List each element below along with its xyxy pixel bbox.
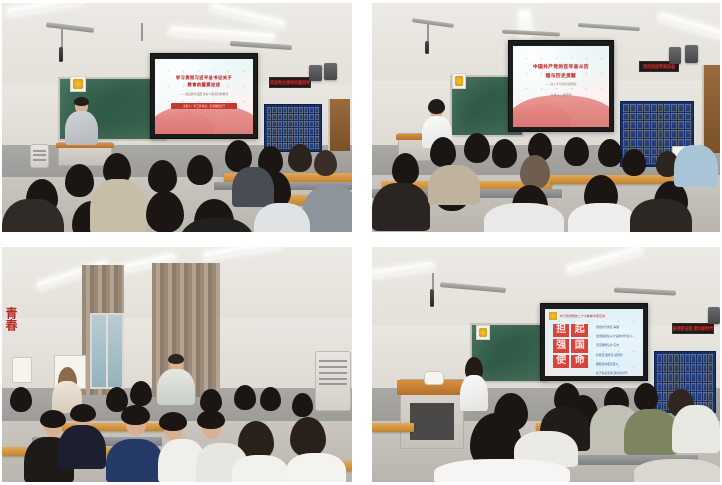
student-head [234, 385, 256, 410]
audience-head [146, 191, 184, 232]
slide-bullet: 担当民族复兴大任的时代新人 [596, 334, 632, 338]
slide-header: 学习贯彻党的二十大精神专题宣讲 [549, 312, 605, 320]
hanging-microphone [425, 41, 429, 54]
slide-bullet: 在于青春无悔 建功新时代 [596, 371, 632, 375]
wall-cabinet [30, 144, 49, 168]
student-head [10, 387, 32, 412]
student-desk [372, 423, 414, 432]
audience-torso [484, 203, 564, 232]
audience-head [430, 137, 456, 167]
audience-head [187, 155, 213, 185]
audience-head [634, 383, 658, 411]
audience-head [492, 139, 517, 168]
headline-char: 担 [553, 324, 570, 337]
mic-cable [432, 273, 434, 289]
student-head [130, 381, 152, 406]
presenter-torso [460, 375, 488, 411]
audience-torso [434, 459, 570, 482]
led-marquee-text: 欢迎各位领导莅临指导 [270, 79, 310, 86]
led-marquee: 奋进新征程 建功新时代 [672, 323, 714, 334]
presenter-hair [428, 99, 445, 114]
headline-char: 国 [571, 339, 588, 352]
school-emblem [476, 325, 490, 340]
door [328, 99, 350, 151]
projection-screen: 学习贯彻党的二十大精神专题宣讲 担 起 强 国 使 命 勇担时代重任 争做 担当… [540, 303, 648, 381]
slide-header-text: 学习贯彻党的二十大精神专题宣讲 [560, 314, 605, 318]
staff-torso [157, 369, 195, 405]
slide-info-band: 主讲人：学工部 地点：实训楼报告厅 [171, 103, 238, 109]
audience-head [288, 144, 312, 172]
student-torso [106, 439, 164, 482]
key-storage-panel [264, 104, 322, 152]
school-emblem [70, 76, 86, 92]
student-hair [197, 410, 225, 429]
slide-title-line2: 教育的重要论述 [163, 82, 245, 88]
headline-char: 使 [553, 355, 570, 368]
photo-bottom-right: 学习贯彻党的二十大精神专题宣讲 担 起 强 国 使 命 勇担时代重任 争做 担当… [372, 247, 720, 482]
photo-collage: 学习贯彻习近平总书记关于 教育的重要论述 ——建设教育强国 办好人民满意的教育 … [0, 0, 722, 485]
presenter-torso [65, 111, 98, 145]
student-hair [290, 417, 326, 457]
audience-head [520, 155, 550, 189]
audience-head [564, 137, 589, 166]
photo-bottom-left: 青春 [2, 247, 352, 482]
audience-head [622, 149, 646, 176]
audience-torso [634, 459, 720, 482]
slide-headline-block: 担 起 强 国 使 命 [553, 324, 588, 368]
hanging-microphone [430, 289, 434, 307]
wall-speaker [708, 307, 720, 324]
school-emblem [452, 73, 466, 89]
hanging-microphone [59, 47, 63, 62]
projection-screen: 中国共产党的百年奋斗历 程与历史贡献 ——深入学习党的创新理论 主讲人：张老师 [508, 40, 614, 132]
presentation-slide: 学习贯彻党的二十大精神专题宣讲 担 起 强 国 使 命 勇担时代重任 争做 担当… [545, 309, 643, 376]
headline-char: 强 [553, 339, 570, 352]
headline-char: 起 [571, 324, 588, 337]
mic-cable [61, 29, 63, 49]
slide-title-line1: 学习贯彻习近平总书记关于 [163, 75, 245, 81]
podium [400, 379, 464, 449]
audience-torso [428, 165, 480, 205]
audience-head [598, 139, 622, 167]
student-torso [232, 455, 288, 482]
student-hair [70, 404, 96, 422]
led-marquee-text: 奋进新征程 建功新时代 [672, 325, 713, 332]
slide-subtitle: ——建设教育强国 办好人民满意的教育 [169, 93, 240, 97]
audience-torso [568, 203, 636, 232]
air-conditioner [315, 351, 351, 411]
student-hair [40, 410, 66, 428]
audience-head [392, 153, 419, 185]
photo-top-right: 中国共产党的百年奋斗历 程与历史贡献 ——深入学习党的创新理论 主讲人：张老师 … [372, 3, 720, 232]
audience-head [65, 164, 94, 197]
slide-title-line1: 中国共产党的百年奋斗历 [521, 64, 602, 71]
staff-hair [168, 354, 184, 364]
slide-bullets: 勇担时代重任 争做 担当民族复兴大任的时代新人 坚定理想信念 矢志 听党话 跟党… [596, 325, 632, 376]
slide-bullet: 坚定理想信念 矢志 [596, 343, 632, 347]
presenter-hair [74, 97, 89, 106]
wall-slogan: 青春 [6, 307, 20, 331]
wall-speaker [669, 47, 681, 64]
student-hair [121, 405, 150, 425]
window [90, 313, 124, 389]
slide-bullet: 勇担时代重任 争做 [596, 325, 632, 329]
audience-head [464, 133, 490, 163]
audience-torso [630, 199, 692, 232]
projection-screen: 学习贯彻习近平总书记关于 教育的重要论述 ——建设教育强国 办好人民满意的教育 … [150, 53, 258, 139]
wall-notice [12, 357, 32, 383]
student-torso [58, 425, 106, 469]
podium-bag [424, 371, 444, 385]
headline-char: 命 [571, 355, 588, 368]
slide-bullet: 脚踏实地艰苦奋斗 [596, 362, 632, 366]
student-hair [159, 412, 187, 431]
slide-title-line2: 程与历史贡献 [521, 73, 602, 80]
photo-top-left: 学习贯彻习近平总书记关于 教育的重要论述 ——建设教育强国 办好人民满意的教育 … [2, 3, 352, 232]
audience-torso [672, 405, 720, 453]
presentation-slide: 学习贯彻习近平总书记关于 教育的重要论述 ——建设教育强国 办好人民满意的教育 … [155, 59, 253, 134]
mic-cable [427, 24, 429, 42]
wall-speaker [324, 63, 337, 80]
audience-torso [674, 145, 718, 187]
projector-cable [141, 23, 143, 41]
audience-head [314, 150, 337, 176]
wall-speaker [685, 45, 698, 63]
presentation-slide: 中国共产党的百年奋斗历 程与历史贡献 ——深入学习党的创新理论 主讲人：张老师 [513, 46, 609, 127]
audience-torso [232, 167, 274, 207]
student-head [292, 393, 313, 417]
door [702, 65, 720, 153]
led-marquee: 欢迎各位领导莅临指导 [269, 77, 311, 88]
audience-head [148, 160, 177, 193]
audience-torso [372, 183, 430, 231]
wall-speaker [309, 65, 322, 81]
party-badge-icon [549, 312, 557, 320]
slide-subtitle: ——深入学习党的创新理论 [526, 83, 595, 87]
audience-torso [624, 409, 678, 455]
slide-bullet: 听党话 跟党走 感党恩 [596, 353, 632, 357]
audience-torso [90, 179, 146, 232]
student-torso [286, 453, 346, 482]
led-marquee-text: 热烈欢迎专家莅临 [643, 63, 675, 70]
slide-presenter-label: 主讲人：张老师 [513, 93, 609, 97]
student-head [260, 387, 281, 411]
